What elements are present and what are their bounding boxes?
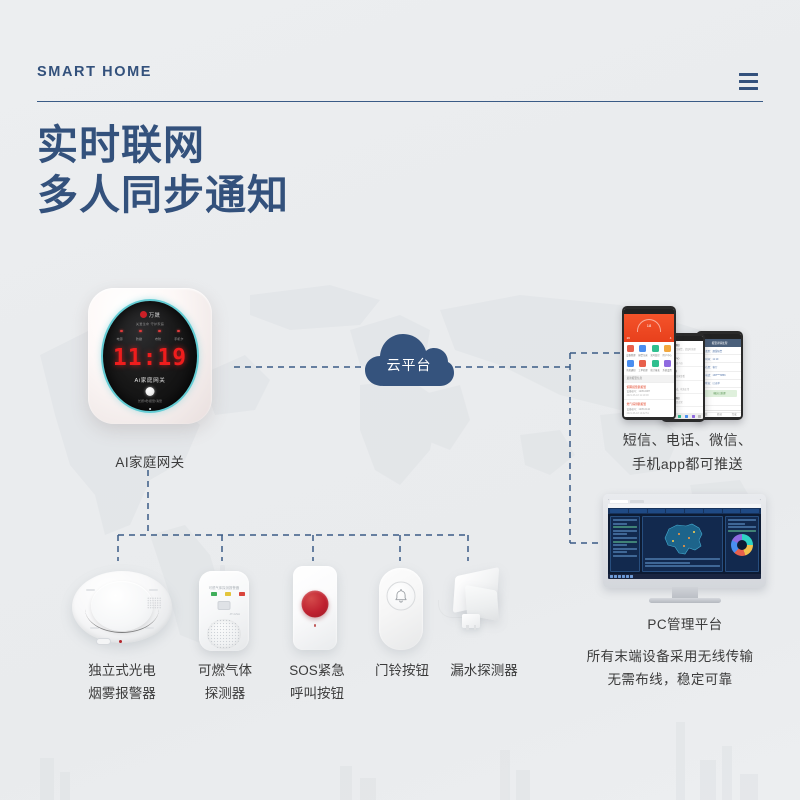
tile-icon-2: [652, 345, 659, 352]
ai-home-gateway-device: 万晟 关爱生命 守护家庭 电源 防撤 布防 手机卡 11:19 Ai家庭网关 长…: [88, 288, 212, 424]
data-row: [613, 544, 627, 546]
nav-item[interactable]: [685, 509, 703, 513]
app-tile[interactable]: 工单处理: [638, 360, 648, 372]
bell-icon: [395, 589, 408, 604]
gas-detector-device: 可燃气体探测报警器 JT-GSA: [195, 565, 253, 651]
led-label-2: 布防: [155, 336, 161, 341]
site-header: SMART HOME: [37, 62, 763, 102]
led-yellow-icon: [225, 592, 231, 596]
data-row: [645, 558, 720, 560]
tile-icon-6: [652, 360, 659, 367]
brand-mark-icon: [140, 311, 147, 318]
leak-detector-caption: 漏水探测器: [434, 659, 534, 682]
tile-label-4: 消息通知: [626, 368, 636, 372]
tile-icon-0: [627, 345, 634, 352]
gas-detector-badge: [218, 601, 231, 610]
dashboard-bottom-table: [645, 558, 720, 569]
gateway-face-panel: 万晟 关爱生命 守护家庭 电源 防撤 布防 手机卡 11:19 Ai家庭网关 长…: [101, 299, 199, 413]
headline-line-2: 多人同步通知: [37, 170, 557, 220]
taskbar-icon[interactable]: [622, 575, 625, 578]
led-simcard-icon: [177, 330, 179, 332]
smoke-detector-caption: 独立式光电 烟雾报警器: [62, 659, 182, 705]
emoji-icon-5: [692, 415, 695, 418]
data-row: [613, 537, 637, 539]
doorbell-caption: 门铃按钮: [360, 659, 444, 682]
app-tile[interactable]: 统计报表: [650, 360, 660, 372]
sos-button-device: [290, 566, 340, 650]
alert-title-0: 烟雾报警器报警: [627, 385, 672, 389]
wireless-note-line-1: 所有末端设备采用无线传输: [587, 649, 754, 664]
smoke-caption-line-2: 烟雾报警器: [88, 686, 156, 701]
monitor-base: [649, 598, 721, 603]
data-row: [613, 548, 637, 550]
alert-row[interactable]: 烟雾报警器报警 设备编号：1205-0087 2021-06-18 11:19:…: [624, 382, 675, 400]
monitor-frame: [603, 494, 766, 588]
emoji-icon-4: [685, 415, 688, 418]
data-row: [613, 541, 637, 543]
gateway-led-labels: 电源 防撤 布防 手机卡: [110, 336, 190, 341]
app-tile[interactable]: 设备管理: [626, 345, 636, 357]
smoke-speaker-grille-icon: [147, 597, 161, 609]
headline: 实时联网 多人同步通知: [37, 120, 557, 220]
data-row: [728, 530, 756, 532]
alert-time-0: 2021-06-18 11:19:03: [627, 394, 672, 397]
nav-item[interactable]: [610, 509, 628, 513]
doorbell-caption-line-1: 门铃按钮: [375, 663, 429, 678]
taskbar-icon[interactable]: [618, 575, 621, 578]
data-row: [645, 565, 720, 567]
led-armed-icon: [158, 330, 160, 332]
gateway-alarm-button[interactable]: [146, 387, 155, 396]
monitor-caption: PC管理平台: [620, 614, 750, 635]
headline-line-1: 实时联网: [37, 122, 205, 168]
tile-label-0: 设备管理: [626, 353, 636, 357]
alert-time-1: 2021-06-18 10:42:51: [627, 412, 672, 415]
china-map-icon: [659, 520, 707, 560]
smoke-vent-slot: [149, 589, 158, 591]
cloud-platform-label: 云平台: [363, 331, 455, 391]
gateway-brand-name: 万晟: [149, 313, 160, 319]
data-row: [613, 551, 627, 553]
smoke-caption-line-1: 独立式光电: [88, 663, 156, 678]
os-taskbar[interactable]: [608, 574, 761, 579]
phones-caption-line-2: 手机app都可推送: [632, 456, 743, 472]
smoke-detector-device: [72, 563, 172, 651]
tile-label-7: 系统设置: [662, 368, 672, 372]
led-red-icon: [239, 592, 245, 596]
led-tamper-icon: [139, 330, 141, 332]
data-row: [645, 562, 690, 564]
leak-detector-device: [440, 570, 510, 650]
tile-icon-4: [627, 360, 634, 367]
phone1-hero-value: 18: [624, 323, 675, 328]
donut-chart: [731, 534, 753, 556]
taskbar-icon[interactable]: [610, 575, 613, 578]
data-row: [613, 530, 637, 532]
data-row: [613, 523, 627, 525]
gas-speaker-grille-icon: [207, 619, 241, 649]
nav-item[interactable]: [648, 509, 666, 513]
sos-led-icon: [314, 624, 316, 627]
doorbell-button-device: [375, 568, 427, 650]
tile-icon-1: [639, 345, 646, 352]
pc-management-platform-monitor: [603, 494, 766, 608]
phone1-section-title: 最新报警信息: [624, 375, 675, 382]
phone1-hero-panel: 18 26 4: [624, 314, 675, 342]
phone1-app-grid[interactable]: 设备管理 报警记录 实时监控 用户中心 消息通知 工单处理 统计报表 系统设置: [624, 342, 675, 375]
alert-detail-0: 设备编号：1205-0087: [627, 389, 672, 393]
dashboard-body: [608, 514, 761, 574]
data-row: [728, 526, 756, 528]
gateway-clock-display: 11:19: [103, 345, 197, 371]
sos-button-caption: SOS紧急 呼叫按钮: [272, 659, 362, 705]
gateway-brand-logo: 万晟 关爱生命 守护家庭: [103, 311, 197, 326]
led-label-0: 电源: [117, 336, 123, 341]
led-label-3: 手机卡: [174, 336, 183, 341]
gas-detector-print: 可燃气体探测报警器: [199, 585, 249, 590]
doorbell-body: [379, 568, 423, 650]
data-row: [613, 526, 637, 528]
nav-item[interactable]: [666, 509, 684, 513]
browser-tab-inactive[interactable]: [630, 500, 644, 503]
monitor-screen: [608, 499, 761, 579]
led-green-icon: [211, 592, 217, 596]
gas-caption-line-2: 探测器: [205, 686, 246, 701]
sos-caption-line-1: SOS紧急: [289, 663, 345, 678]
data-row: [613, 519, 637, 521]
gas-detector-caption: 可燃气体 探测器: [180, 659, 270, 705]
probe-pin-right: [474, 625, 477, 630]
gas-caption-line-1: 可燃气体: [198, 663, 252, 678]
nav-item[interactable]: [741, 509, 759, 513]
menu-bar-1: [739, 73, 758, 76]
gas-detector-model-text: JT-GSA: [229, 612, 240, 616]
phone3-footer-2[interactable]: 完成: [727, 411, 742, 417]
smoke-vent-slot: [145, 627, 154, 629]
phone-app-dashboard: 18 26 4 设备管理 报警记录 实时监控 用户中心 消息通知 工单处理 统计…: [622, 306, 676, 420]
taskbar-icon[interactable]: [626, 575, 629, 578]
nav-item[interactable]: [723, 509, 741, 513]
emoji-icon-6: [698, 415, 701, 418]
phones-caption-line-1: 短信、电话、微信、: [623, 432, 753, 448]
gateway-button-hint: 长按3秒报警/消警: [103, 398, 197, 403]
page-title: SMART HOME: [37, 64, 152, 80]
leak-caption-line-1: 漏水探测器: [450, 663, 518, 678]
hamburger-menu-icon[interactable]: [739, 73, 758, 90]
browser-tab-active[interactable]: [610, 500, 628, 503]
menu-bar-3: [739, 87, 758, 90]
smoke-test-button[interactable]: [96, 638, 111, 645]
tile-icon-7: [664, 360, 671, 367]
gateway-indicator-dot: [149, 408, 151, 410]
taskbar-icon[interactable]: [614, 575, 617, 578]
cloud-platform-node: 云平台: [363, 331, 455, 391]
menu-bar-2: [739, 80, 758, 83]
nav-item[interactable]: [704, 509, 722, 513]
alert-row[interactable]: 燃气探测器报警 设备编号：1205-0142 2021-06-18 10:42:…: [624, 399, 675, 417]
tile-label-5: 工单处理: [638, 368, 648, 372]
app-tile[interactable]: 用户中心: [662, 345, 672, 357]
led-power-icon: [120, 330, 122, 332]
tile-label-2: 实时监控: [650, 353, 660, 357]
sos-caption-line-2: 呼叫按钮: [290, 686, 344, 701]
led-label-1: 防撤: [136, 336, 142, 341]
phone1-hero-left: 26: [627, 336, 630, 340]
data-row: [728, 519, 756, 521]
gateway-brand-slogan: 关爱生命 守护家庭: [103, 321, 197, 326]
app-tile[interactable]: 实时监控: [650, 345, 660, 357]
gateway-face-label: Ai家庭网关: [103, 376, 197, 384]
nav-item[interactable]: [629, 509, 647, 513]
data-row: [613, 533, 627, 535]
mobile-phones-group: 报警详情处理 报警类型：烟雾报警 报警时间：11:19 设备位置：客厅 联系电话…: [612, 306, 762, 424]
app-tile[interactable]: 消息通知: [626, 360, 636, 372]
taskbar-icon[interactable]: [630, 575, 633, 578]
tile-icon-3: [664, 345, 671, 352]
data-row: [613, 555, 637, 557]
dashboard-left-panel: [610, 516, 640, 572]
gateway-status-leds: [112, 330, 188, 332]
wireless-note: 所有末端设备采用无线传输 无需布线，稳定可靠: [540, 645, 800, 691]
emoji-icon-3: [678, 415, 681, 418]
tile-label-3: 用户中心: [662, 353, 672, 357]
dashboard-right-panel: [725, 516, 759, 572]
probe-pin-left: [466, 625, 469, 630]
tile-label-1: 报警记录: [638, 353, 648, 357]
sos-press-button[interactable]: [302, 591, 329, 618]
alert-detail-1: 设备编号：1205-0142: [627, 407, 672, 411]
sos-button-body: [293, 566, 337, 650]
tile-label-6: 统计报表: [650, 368, 660, 372]
alert-title-1: 燃气探测器报警: [627, 402, 672, 406]
dashboard-map-panel: [642, 516, 723, 572]
leak-detector-probe: [462, 614, 480, 628]
data-row: [728, 523, 745, 525]
gas-status-leds: [211, 592, 245, 596]
smoke-vent-slot: [86, 589, 95, 591]
phone3-confirm-button[interactable]: 确认已处理: [702, 390, 738, 397]
tile-icon-5: [639, 360, 646, 367]
app-tile[interactable]: 系统设置: [662, 360, 672, 372]
wireless-note-line-2: 无需布线，稳定可靠: [607, 672, 732, 687]
gateway-caption: AI家庭网关: [90, 452, 210, 473]
phones-caption: 短信、电话、微信、 手机app都可推送: [580, 428, 795, 476]
app-tile[interactable]: 报警记录: [638, 345, 648, 357]
phone1-hero-right: 4: [670, 336, 672, 340]
phone3-footer-1[interactable]: 转派: [712, 411, 727, 417]
gas-detector-body: 可燃气体探测报警器 JT-GSA: [199, 571, 249, 651]
